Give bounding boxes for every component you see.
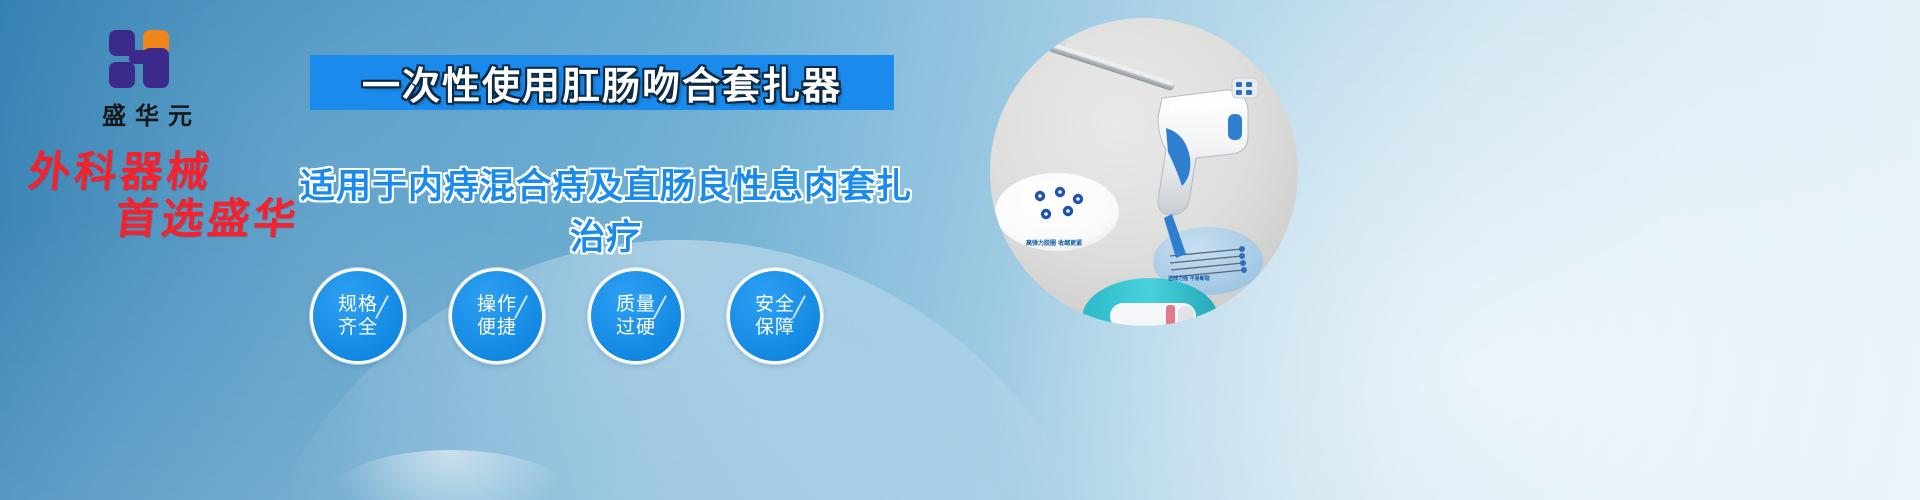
brand-name: 盛华元 [62, 96, 232, 131]
feature-badge-safety[interactable]: 安全 保障 [727, 268, 823, 364]
feature-badge-line-1: 安全 [755, 293, 795, 316]
feature-badge-operation[interactable]: 操作 便捷 [449, 268, 545, 364]
feature-badge-quality[interactable]: 质量 过硬 [588, 268, 684, 364]
feature-badge-specs[interactable]: 规格 齐全 [310, 268, 406, 364]
product-band-label: 高弹力胶圈 收缩更紧 [1026, 238, 1082, 247]
feature-badge-line-1: 操作 [477, 293, 517, 316]
background-bottom-arc [330, 450, 570, 500]
page-subtitle: 适用于内痔混合痔及直肠良性息肉套扎治疗 [296, 158, 916, 260]
feature-badge-line-1: 规格 [338, 293, 378, 316]
feature-badge-line-1: 质量 [616, 293, 656, 316]
page-title: 一次性使用肛肠吻合套扎器 [310, 55, 894, 110]
feature-badge-line-2: 保障 [755, 316, 795, 339]
feature-badge-line-2: 过硬 [616, 316, 656, 339]
shenghuayuan-blocks-logo-icon [105, 28, 189, 90]
product-needle-label: 送线力强 不易断裂 [1168, 275, 1210, 282]
feature-badge-line-2: 齐全 [338, 316, 378, 339]
product-photo[interactable] [990, 18, 1298, 326]
feature-badge-list: 规格 齐全 操作 便捷 质量 过硬 安全 保障 [310, 268, 823, 364]
feature-badge-line-2: 便捷 [477, 316, 517, 339]
brand-logo[interactable]: 盛华元 [62, 28, 232, 131]
